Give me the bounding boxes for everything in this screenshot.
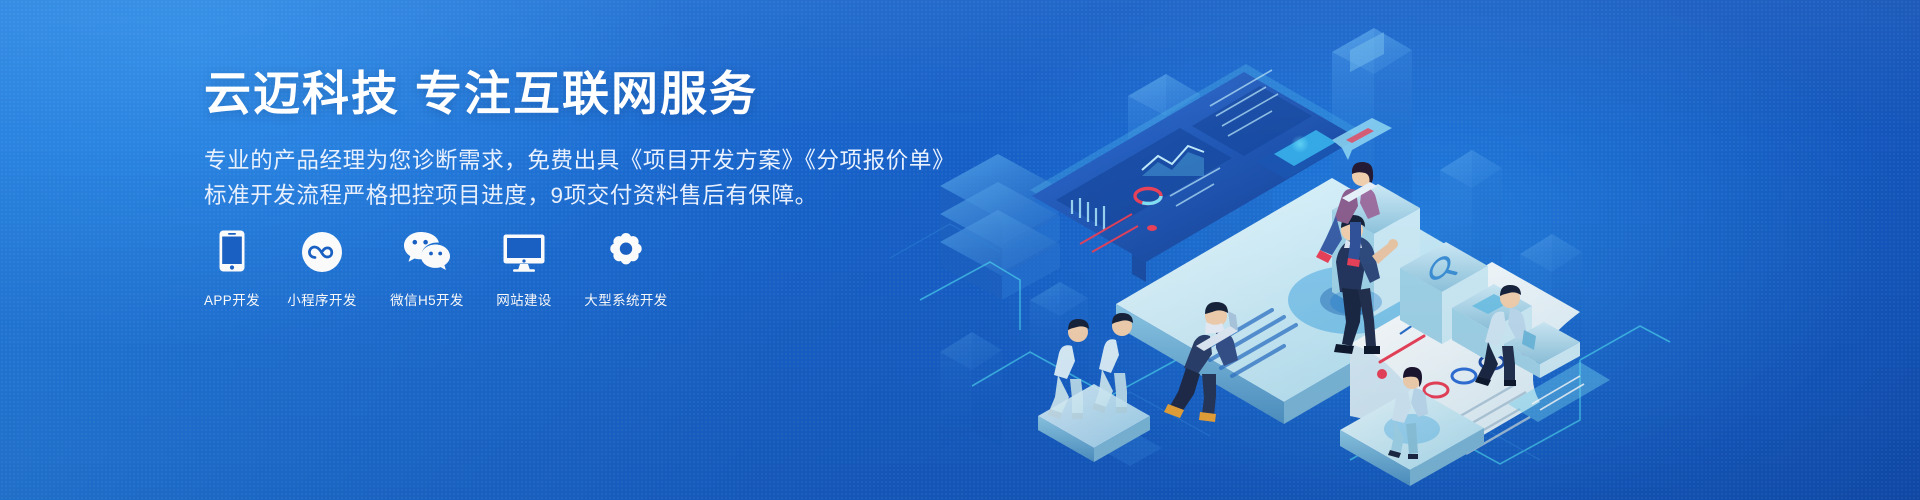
wechat-icon [403, 228, 451, 272]
service-item-website[interactable]: 网站建设 [492, 228, 556, 309]
service-label-system: 大型系统开发 [584, 289, 667, 309]
hero-banner: 云迈科技 专注互联网服务 专业的产品经理为您诊断需求，免费出具《项目开发方案》《… [0, 0, 1920, 500]
isometric-illustration [880, 0, 1920, 500]
service-label-website: 网站建设 [496, 289, 552, 309]
service-label-app: APP开发 [204, 289, 260, 309]
gear-icon [606, 228, 646, 272]
service-label-miniprogram: 小程序开发 [287, 289, 357, 309]
service-item-system[interactable]: 大型系统开发 [578, 228, 674, 309]
banner-copy: 云迈科技 专注互联网服务 专业的产品经理为您诊断需求，免费出具《项目开发方案》《… [204, 66, 964, 213]
mobile-phone-icon [219, 228, 245, 272]
monitor-icon [503, 228, 545, 272]
subtitle-line-2: 标准开发流程严格把控项目进度，9项交付资料售后有保障。 [204, 178, 964, 213]
page-title: 云迈科技 专注互联网服务 [204, 66, 964, 121]
service-item-miniprogram[interactable]: 小程序开发 [282, 228, 362, 309]
service-label-wechat: 微信H5开发 [390, 289, 464, 309]
service-item-wechat[interactable]: 微信H5开发 [384, 228, 470, 309]
banner-subtitle: 专业的产品经理为您诊断需求，免费出具《项目开发方案》《分项报价单》 标准开发流程… [204, 143, 964, 213]
service-item-app[interactable]: APP开发 [204, 228, 260, 309]
service-list: APP开发 小程序开发 微信 [204, 228, 674, 309]
subtitle-line-1: 专业的产品经理为您诊断需求，免费出具《项目开发方案》《分项报价单》 [204, 143, 964, 178]
mini-program-icon [302, 228, 342, 272]
